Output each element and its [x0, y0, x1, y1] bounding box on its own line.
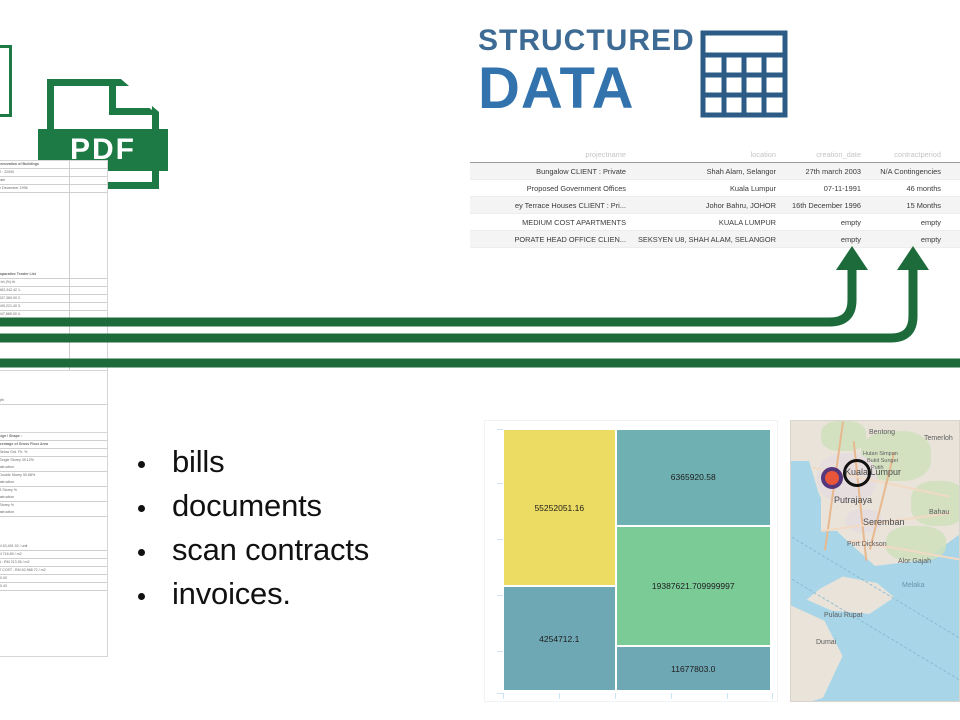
scan-spacer — [0, 517, 107, 543]
axis-tick — [503, 693, 504, 699]
cell-projectname: Proposed Government Offices — [470, 180, 630, 197]
list-item: invoices. — [128, 572, 478, 616]
treemap-cell-label: 19387621.709999997 — [652, 581, 735, 591]
map-label-seremban: Seremban — [863, 517, 905, 527]
map-label: Hutan Simpan — [863, 451, 898, 457]
treemap-cell-label: 55252051.16 — [534, 503, 584, 513]
axis-tick — [727, 693, 728, 699]
flow-arrow-line-1 — [0, 266, 852, 322]
scan-line: Construction — [0, 509, 107, 517]
axis-tick — [772, 693, 773, 699]
table-grid-icon — [700, 30, 788, 118]
location-map[interactable]: Bentong Temerloh Hutan Simpan Bukit Sung… — [790, 420, 960, 702]
column-header-projectname[interactable]: projectname — [470, 148, 630, 163]
scan-line: : 100.43 — [0, 583, 107, 591]
flow-arrow-line-2 — [0, 266, 913, 338]
cell-extra: 1 — [945, 214, 960, 231]
axis-tick — [497, 483, 503, 484]
scan-line: 16th December 1996 — [0, 185, 107, 193]
scan-line: (d) 3 Storey % — [0, 487, 107, 494]
axis-tick — [497, 539, 503, 540]
table-row[interactable]: Bungalow CLIENT : Private Shah Alam, Sel… — [470, 163, 960, 180]
table-row[interactable]: MEDIUM COST APARTMENTS KUALA LUMPUR empt… — [470, 214, 960, 231]
cell-location: KUALA LUMPUR — [630, 214, 780, 231]
slide-canvas: PDF & Renovation of Buildings A : 2 : 22… — [0, 0, 960, 720]
treemap-cell[interactable]: 4254712.1 — [503, 586, 616, 691]
treemap-cell-label: 11677803.0 — [671, 664, 715, 674]
document-type-list: bills documents scan contracts invoices. — [128, 440, 478, 616]
scan-line: (c) Double Storey 50.88% — [0, 472, 107, 479]
list-item: documents — [128, 484, 478, 528]
cell-location: Shah Alam, Selangor — [630, 163, 780, 180]
treemap-cell[interactable]: 19387621.709999997 — [616, 526, 771, 647]
axis-tick — [671, 693, 672, 699]
treemap-cell[interactable]: 6365920.58 — [616, 429, 771, 526]
scan-line: NET COST : RM 62,968.72 / m2 — [0, 567, 107, 575]
treemap-chart: 55252051.16 6365920.58 19387621.70999999… — [484, 420, 778, 702]
scan-line: length — [0, 397, 107, 405]
axis-tick — [497, 595, 503, 596]
scan-line: GFA : RM 213.36 / m2 — [0, 559, 107, 567]
table-row[interactable]: ey Terrace Houses CLIENT : Pri... Johor … — [470, 197, 960, 214]
map-label: Alor Gajah — [898, 558, 931, 565]
scan-line: : RM 716.89 / m2 — [0, 551, 107, 559]
column-header-location[interactable]: location — [630, 148, 780, 163]
scan-line: (b) Single Storey 49.12% — [0, 457, 107, 464]
scan-line: : RM 63,451.92 / unit — [0, 543, 107, 551]
scan-line: Design / Shape : — [0, 433, 107, 441]
cell-extra — [945, 163, 960, 180]
map-label: Bahau — [929, 509, 949, 516]
map-label: Pulau Rupat — [824, 612, 863, 619]
scan-line: (a) Below Grd. Flr. % — [0, 449, 107, 457]
map-label: Melaka — [902, 582, 925, 589]
column-header-extra[interactable]: v — [945, 148, 960, 163]
flow-arrows-group — [0, 240, 960, 390]
list-item: bills — [128, 440, 478, 484]
cell-projectname: MEDIUM COST APARTMENTS — [470, 214, 630, 231]
axis-tick — [559, 693, 560, 699]
scan-line: & Renovation of Buildings — [0, 161, 107, 169]
cell-location: Johor Bahru, JOHOR — [630, 197, 780, 214]
map-label: Temerloh — [924, 435, 953, 442]
map-label: Bukit Sungei — [867, 458, 898, 464]
treemap-cell[interactable]: 55252051.16 — [503, 429, 616, 586]
map-forest-area — [911, 481, 960, 526]
scan-line: Construction — [0, 494, 107, 502]
cell-contractperiod: 15 Months — [865, 197, 945, 214]
scan-line: Construction — [0, 479, 107, 487]
flow-arrow-head-2 — [897, 246, 929, 270]
axis-tick — [615, 693, 616, 699]
scan-line: : 100.00 — [0, 575, 107, 583]
scan-line: Construction — [0, 464, 107, 472]
cell-contractperiod: 46 months — [865, 180, 945, 197]
scan-line: (e) Storey % — [0, 502, 107, 509]
cell-creation-date: 16th December 1996 — [780, 197, 865, 214]
cell-projectname: Bungalow CLIENT : Private — [470, 163, 630, 180]
column-header-creation-date[interactable]: creation_date — [780, 148, 865, 163]
column-header-contractperiod[interactable]: contractperiod — [865, 148, 945, 163]
treemap-cell[interactable]: 11677803.0 — [616, 646, 771, 691]
scan-spacer — [0, 193, 107, 219]
cell-creation-date: 07-11-1991 — [780, 180, 865, 197]
list-item: scan contracts — [128, 528, 478, 572]
cell-contractperiod: empty — [865, 214, 945, 231]
marker-inner-point[interactable] — [825, 471, 839, 485]
axis-tick — [497, 651, 503, 652]
flow-arrow-head-1 — [836, 246, 868, 270]
scan-line: A : 2 : 22000 — [0, 169, 107, 177]
cell-contractperiod: N/A Contingencies — [865, 163, 945, 180]
cell-creation-date: empty — [780, 214, 865, 231]
treemap-cell-label: 4254712.1 — [539, 634, 579, 644]
cell-projectname: ey Terrace Houses CLIENT : Pri... — [470, 197, 630, 214]
cell-location: Kuala Lumpur — [630, 180, 780, 197]
table-row[interactable]: Proposed Government Offices Kuala Lumpur… — [470, 180, 960, 197]
map-label: Port Dickson — [847, 541, 887, 548]
structured-data-logo: STRUCTURED DATA — [478, 24, 788, 134]
map-label-putrajaya: Putrajaya — [834, 495, 872, 505]
map-label: Bentong — [869, 429, 895, 436]
treemap-cell-label: 6365920.58 — [671, 472, 716, 482]
cell-creation-date: 27th march 2003 — [780, 163, 865, 180]
cell-extra: 1 — [945, 197, 960, 214]
map-label: Dumai — [816, 639, 836, 646]
axis-tick — [497, 429, 503, 430]
map-label-kuala-lumpur: Kuala Lumpur — [845, 467, 901, 477]
scan-line: Percentage of Gross Floor Area — [0, 441, 107, 449]
table-header-row: projectname location creation_date contr… — [470, 148, 960, 163]
scan-line: Private — [0, 177, 107, 185]
scanned-document-bottom: Design / Shape : Percentage of Gross Flo… — [0, 432, 108, 657]
document-outline-icon — [0, 45, 12, 117]
treemap-plot-area: 55252051.16 6365920.58 19387621.70999999… — [503, 429, 771, 691]
cell-extra: 5 — [945, 180, 960, 197]
